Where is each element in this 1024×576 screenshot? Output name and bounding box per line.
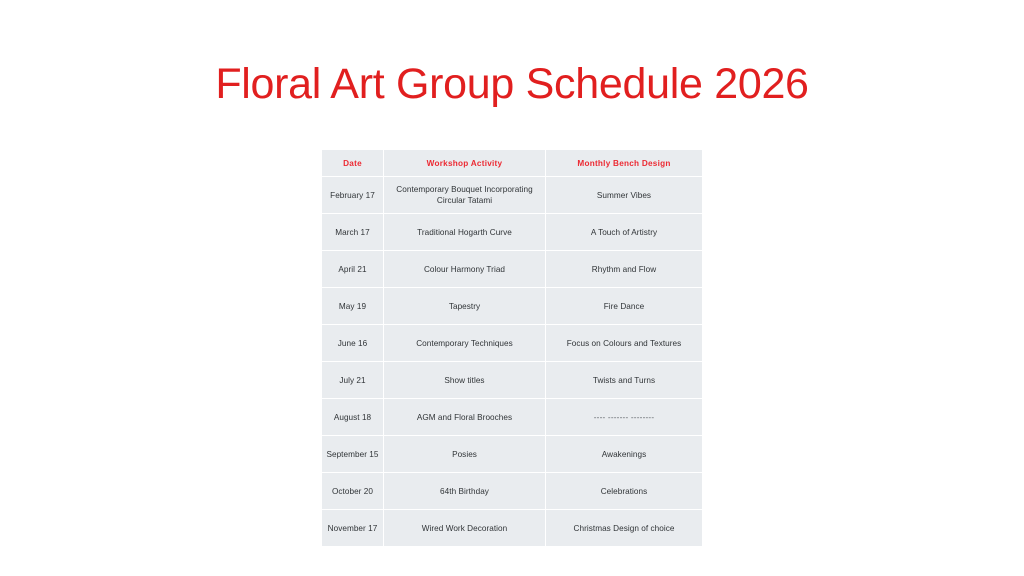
table-row: October 20 64th Birthday Celebrations xyxy=(322,473,702,510)
table-row: July 21 Show titles Twists and Turns xyxy=(322,362,702,399)
cell-bench-design: Fire Dance xyxy=(546,288,702,325)
schedule-table: Date Workshop Activity Monthly Bench Des… xyxy=(322,150,702,546)
table-header-row: Date Workshop Activity Monthly Bench Des… xyxy=(322,150,702,177)
cell-activity: Traditional Hogarth Curve xyxy=(384,214,546,251)
cell-activity: 64th Birthday xyxy=(384,473,546,510)
cell-activity: Show titles xyxy=(384,362,546,399)
cell-activity: Posies xyxy=(384,436,546,473)
cell-bench-design: ---- ------- -------- xyxy=(546,399,702,436)
column-header-workshop-activity: Workshop Activity xyxy=(384,150,546,177)
table-row: April 21 Colour Harmony Triad Rhythm and… xyxy=(322,251,702,288)
bench-design-placeholder-dashes: ---- ------- -------- xyxy=(594,412,655,423)
slide-canvas: Floral Art Group Schedule 2026 Date Work… xyxy=(0,0,1024,576)
cell-date: June 16 xyxy=(322,325,384,362)
cell-activity: Tapestry xyxy=(384,288,546,325)
cell-bench-design: Christmas Design of choice xyxy=(546,510,702,546)
cell-bench-design: Focus on Colours and Textures xyxy=(546,325,702,362)
table-row: September 15 Posies Awakenings xyxy=(322,436,702,473)
cell-date: July 21 xyxy=(322,362,384,399)
cell-date: March 17 xyxy=(322,214,384,251)
cell-date: May 19 xyxy=(322,288,384,325)
table-header: Date Workshop Activity Monthly Bench Des… xyxy=(322,150,702,177)
cell-bench-design: Twists and Turns xyxy=(546,362,702,399)
column-header-monthly-bench-design: Monthly Bench Design xyxy=(546,150,702,177)
table-row: November 17 Wired Work Decoration Christ… xyxy=(322,510,702,546)
cell-bench-design: Summer Vibes xyxy=(546,177,702,214)
page-title: Floral Art Group Schedule 2026 xyxy=(0,58,1024,110)
table-row: June 16 Contemporary Techniques Focus on… xyxy=(322,325,702,362)
cell-activity: Wired Work Decoration xyxy=(384,510,546,546)
table-row: August 18 AGM and Floral Brooches ---- -… xyxy=(322,399,702,436)
cell-date: August 18 xyxy=(322,399,384,436)
table-row: February 17 Contemporary Bouquet Incorpo… xyxy=(322,177,702,214)
cell-activity: Contemporary Bouquet Incorporating Circu… xyxy=(384,177,546,214)
table-body: February 17 Contemporary Bouquet Incorpo… xyxy=(322,177,702,546)
cell-bench-design: Celebrations xyxy=(546,473,702,510)
cell-date: November 17 xyxy=(322,510,384,546)
cell-date: October 20 xyxy=(322,473,384,510)
schedule-table-container: Date Workshop Activity Monthly Bench Des… xyxy=(322,150,702,546)
cell-date: September 15 xyxy=(322,436,384,473)
cell-bench-design: A Touch of Artistry xyxy=(546,214,702,251)
cell-bench-design: Awakenings xyxy=(546,436,702,473)
cell-activity: AGM and Floral Brooches xyxy=(384,399,546,436)
table-row: March 17 Traditional Hogarth Curve A Tou… xyxy=(322,214,702,251)
cell-activity: Colour Harmony Triad xyxy=(384,251,546,288)
cell-activity: Contemporary Techniques xyxy=(384,325,546,362)
table-row: May 19 Tapestry Fire Dance xyxy=(322,288,702,325)
cell-date: April 21 xyxy=(322,251,384,288)
column-header-date: Date xyxy=(322,150,384,177)
cell-bench-design: Rhythm and Flow xyxy=(546,251,702,288)
cell-date: February 17 xyxy=(322,177,384,214)
